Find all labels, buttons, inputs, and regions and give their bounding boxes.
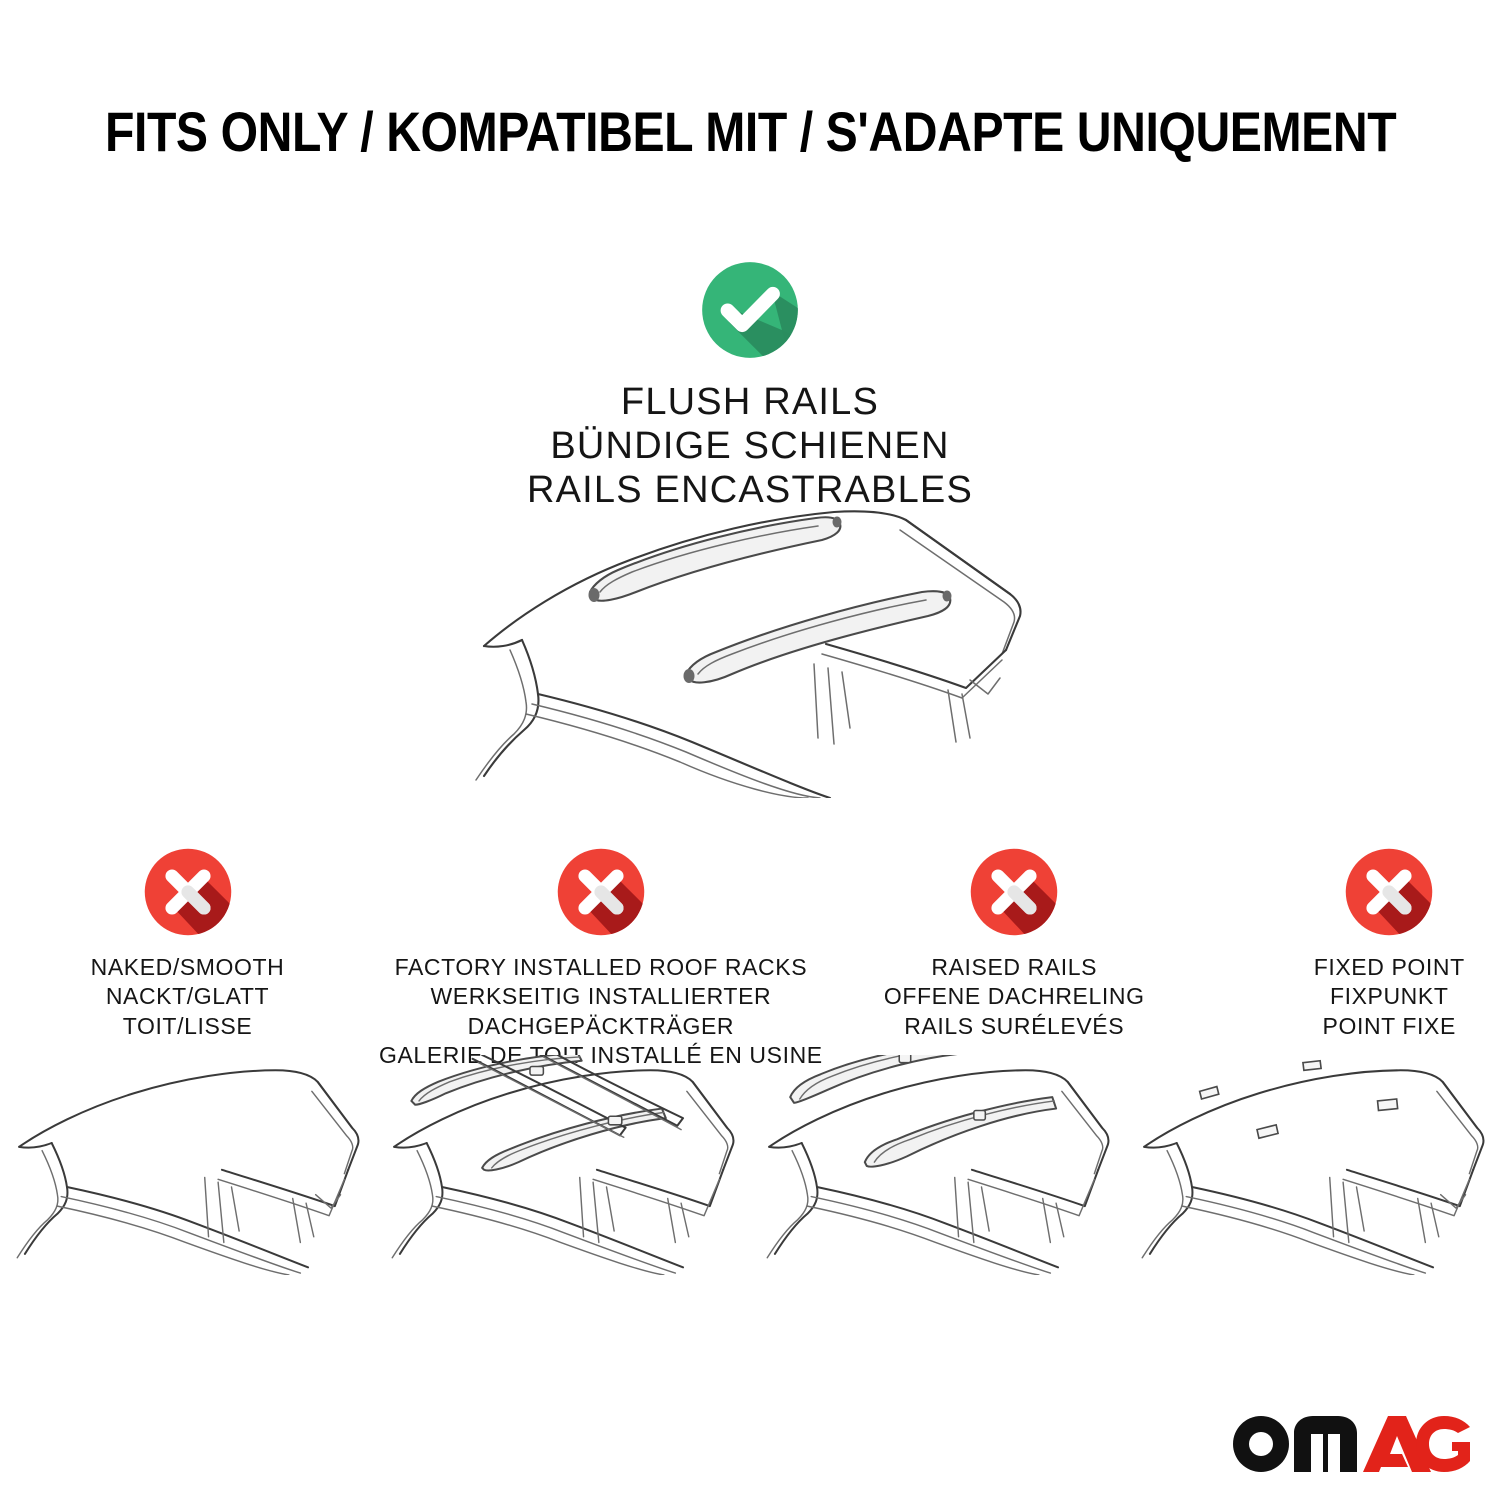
compatible-section: FLUSH RAILS BÜNDIGE SCHIENEN RAILS ENCAS… — [0, 258, 1500, 512]
option-label: NAKED/SMOOTH NACKT/GLATT TOIT/LISSE — [87, 953, 289, 1041]
option-label-en: NAKED/SMOOTH — [91, 953, 285, 982]
compatible-label: FLUSH RAILS BÜNDIGE SCHIENEN RAILS ENCAS… — [527, 380, 973, 512]
compatible-label-en: FLUSH RAILS — [527, 380, 973, 424]
option-raised-rails: RAISED RAILS OFFENE DACHRELING RAILS SUR… — [827, 845, 1202, 1041]
x-circle-icon — [554, 845, 648, 939]
omac-logo — [1230, 1409, 1470, 1475]
incompatible-illustrations-row — [0, 1055, 1500, 1275]
option-label-en: FACTORY INSTALLED ROOF RACKS — [379, 953, 823, 982]
option-naked-smooth: NAKED/SMOOTH NACKT/GLATT TOIT/LISSE — [0, 845, 375, 1041]
factory-crossbars-illustration — [375, 1055, 750, 1275]
option-label: FIXED POINT FIXPUNKT POINT FIXE — [1310, 953, 1469, 1041]
option-label-de-1: WERKSEITIG INSTALLIERTER — [379, 982, 823, 1011]
logo-letter-o — [1233, 1416, 1289, 1472]
x-circle-icon — [1342, 845, 1436, 939]
x-circle-icon — [967, 845, 1061, 939]
fixed-points-illustration — [1125, 1055, 1500, 1275]
check-circle-icon — [698, 258, 802, 362]
x-circle-icon — [141, 845, 235, 939]
option-label-en: RAISED RAILS — [884, 953, 1145, 982]
raised-rails-illustration — [750, 1055, 1125, 1275]
compatible-label-de: BÜNDIGE SCHIENEN — [527, 424, 973, 468]
option-label-fr: RAILS SURÉLEVÉS — [884, 1012, 1145, 1041]
page-title: FITS ONLY / KOMPATIBEL MIT / S'ADAPTE UN… — [105, 104, 1395, 160]
option-factory-roof-racks: FACTORY INSTALLED ROOF RACKS WERKSEITIG … — [375, 845, 827, 1071]
flush-rails-illustration — [0, 498, 1500, 798]
option-label-fr: TOIT/LISSE — [91, 1012, 285, 1041]
option-label-fr: POINT FIXE — [1314, 1012, 1465, 1041]
option-label-de-2: DACHGEPÄCKTRÄGER — [379, 1012, 823, 1041]
incompatible-options-row: NAKED/SMOOTH NACKT/GLATT TOIT/LISSE — [0, 845, 1500, 1071]
logo-letter-m — [1294, 1416, 1357, 1472]
option-label: RAISED RAILS OFFENE DACHRELING RAILS SUR… — [880, 953, 1149, 1041]
option-label-en: FIXED POINT — [1314, 953, 1465, 982]
logo-letter-c — [1416, 1416, 1470, 1472]
option-label-de: OFFENE DACHRELING — [884, 982, 1145, 1011]
bare-roof-illustration — [0, 1055, 375, 1275]
option-label: FACTORY INSTALLED ROOF RACKS WERKSEITIG … — [375, 953, 827, 1071]
option-label-de: NACKT/GLATT — [91, 982, 285, 1011]
option-fixed-point: FIXED POINT FIXPUNKT POINT FIXE — [1202, 845, 1500, 1041]
option-label-de: FIXPUNKT — [1314, 982, 1465, 1011]
